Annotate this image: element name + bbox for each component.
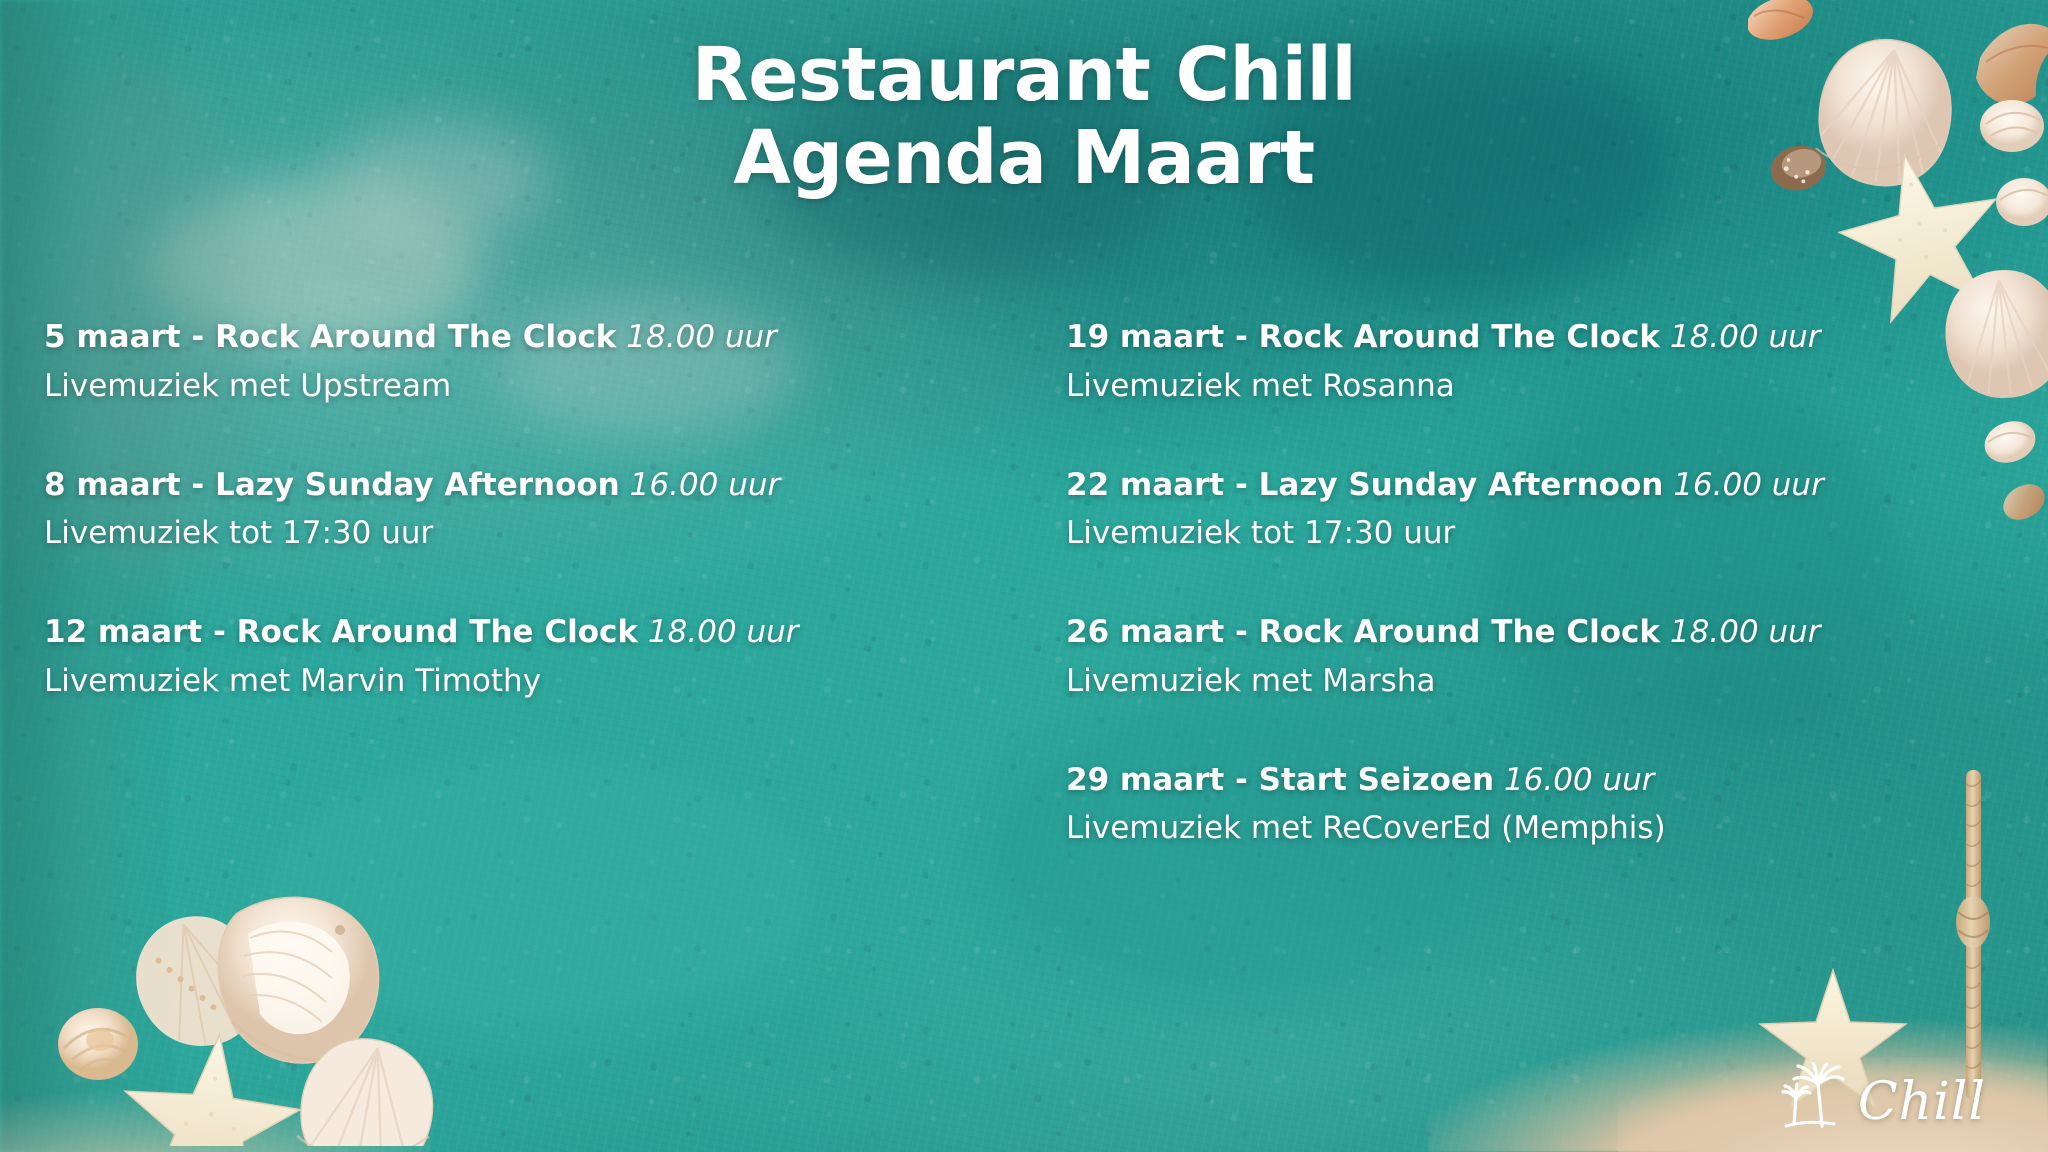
- agenda-entry: 12 maart - Rock Around The Clock 18.00 u…: [44, 613, 1024, 701]
- entry-date: 19 maart: [1066, 319, 1224, 355]
- entry-separator: -: [181, 467, 215, 503]
- entry-separator: -: [1224, 614, 1258, 650]
- entry-event: Rock Around The Clock: [215, 319, 616, 355]
- entry-detail: Livemuziek tot 17:30 uur: [1066, 514, 2048, 553]
- logo-wordmark: Chill: [1858, 1076, 1986, 1128]
- entry-event: Rock Around The Clock: [237, 614, 638, 650]
- agenda-entry-headline: 5 maart - Rock Around The Clock 18.00 uu…: [44, 318, 1024, 357]
- entry-time: 18.00 uur: [1670, 319, 1821, 355]
- agenda-column-left: 5 maart - Rock Around The Clock 18.00 uu…: [0, 318, 1024, 908]
- agenda-entry-headline: 19 maart - Rock Around The Clock 18.00 u…: [1066, 318, 2048, 357]
- entry-time: 16.00 uur: [630, 467, 781, 503]
- chill-logo: Chill: [1778, 1062, 1986, 1128]
- agenda-entry-headline: 26 maart - Rock Around The Clock 18.00 u…: [1066, 613, 2048, 652]
- entry-time: 18.00 uur: [626, 319, 777, 355]
- entry-time: 18.00 uur: [1670, 614, 1821, 650]
- poster-title: Restaurant Chill Agenda Maart: [0, 34, 2048, 200]
- agenda-entry-headline: 12 maart - Rock Around The Clock 18.00 u…: [44, 613, 1024, 652]
- entry-date: 8 maart: [44, 467, 181, 503]
- entry-separator: -: [1224, 467, 1258, 503]
- agenda-entry: 26 maart - Rock Around The Clock 18.00 u…: [1066, 613, 2048, 701]
- entry-separator: -: [1224, 319, 1258, 355]
- agenda-entry: 19 maart - Rock Around The Clock 18.00 u…: [1066, 318, 2048, 406]
- entry-separator: -: [181, 319, 215, 355]
- sand-bottom-left: [0, 1082, 430, 1152]
- agenda-entry-headline: 22 maart - Lazy Sunday Afternoon 16.00 u…: [1066, 466, 2048, 505]
- entry-separator: -: [202, 614, 236, 650]
- entry-event: Rock Around The Clock: [1259, 319, 1660, 355]
- agenda-entry: 22 maart - Lazy Sunday Afternoon 16.00 u…: [1066, 466, 2048, 554]
- entry-date: 29 maart: [1066, 762, 1224, 798]
- agenda-entry: 29 maart - Start Seizoen 16.00 uur Livem…: [1066, 761, 2048, 849]
- entry-time: 16.00 uur: [1673, 467, 1824, 503]
- poster-background: Restaurant Chill Agenda Maart 5 maart - …: [0, 0, 2048, 1152]
- entry-event: Rock Around The Clock: [1259, 614, 1660, 650]
- entry-date: 22 maart: [1066, 467, 1224, 503]
- entry-separator: -: [1224, 762, 1258, 798]
- entry-detail: Livemuziek tot 17:30 uur: [44, 514, 1024, 553]
- entry-date: 26 maart: [1066, 614, 1224, 650]
- entry-detail: Livemuziek met Marvin Timothy: [44, 662, 1024, 701]
- entry-time: 16.00 uur: [1504, 762, 1655, 798]
- entry-event: Lazy Sunday Afternoon: [1259, 467, 1664, 503]
- agenda-columns: 5 maart - Rock Around The Clock 18.00 uu…: [0, 318, 2048, 908]
- agenda-entry: 8 maart - Lazy Sunday Afternoon 16.00 uu…: [44, 466, 1024, 554]
- agenda-entry-headline: 29 maart - Start Seizoen 16.00 uur: [1066, 761, 2048, 800]
- title-line-1: Restaurant Chill: [0, 34, 2048, 117]
- entry-detail: Livemuziek met Marsha: [1066, 662, 2048, 701]
- entry-event: Lazy Sunday Afternoon: [215, 467, 620, 503]
- title-line-2: Agenda Maart: [0, 117, 2048, 200]
- entry-date: 5 maart: [44, 319, 181, 355]
- entry-event: Start Seizoen: [1259, 762, 1494, 798]
- conch-shell-icon: [218, 897, 378, 1063]
- agenda-entry: 5 maart - Rock Around The Clock 18.00 uu…: [44, 318, 1024, 406]
- entry-detail: Livemuziek met ReCoverEd (Memphis): [1066, 809, 2048, 848]
- agenda-entry-headline: 8 maart - Lazy Sunday Afternoon 16.00 uu…: [44, 466, 1024, 505]
- palm-tree-icon: [1778, 1062, 1852, 1128]
- agenda-column-right: 19 maart - Rock Around The Clock 18.00 u…: [1024, 318, 2048, 908]
- entry-detail: Livemuziek met Rosanna: [1066, 367, 2048, 406]
- entry-time: 18.00 uur: [648, 614, 799, 650]
- entry-detail: Livemuziek met Upstream: [44, 367, 1024, 406]
- entry-date: 12 maart: [44, 614, 202, 650]
